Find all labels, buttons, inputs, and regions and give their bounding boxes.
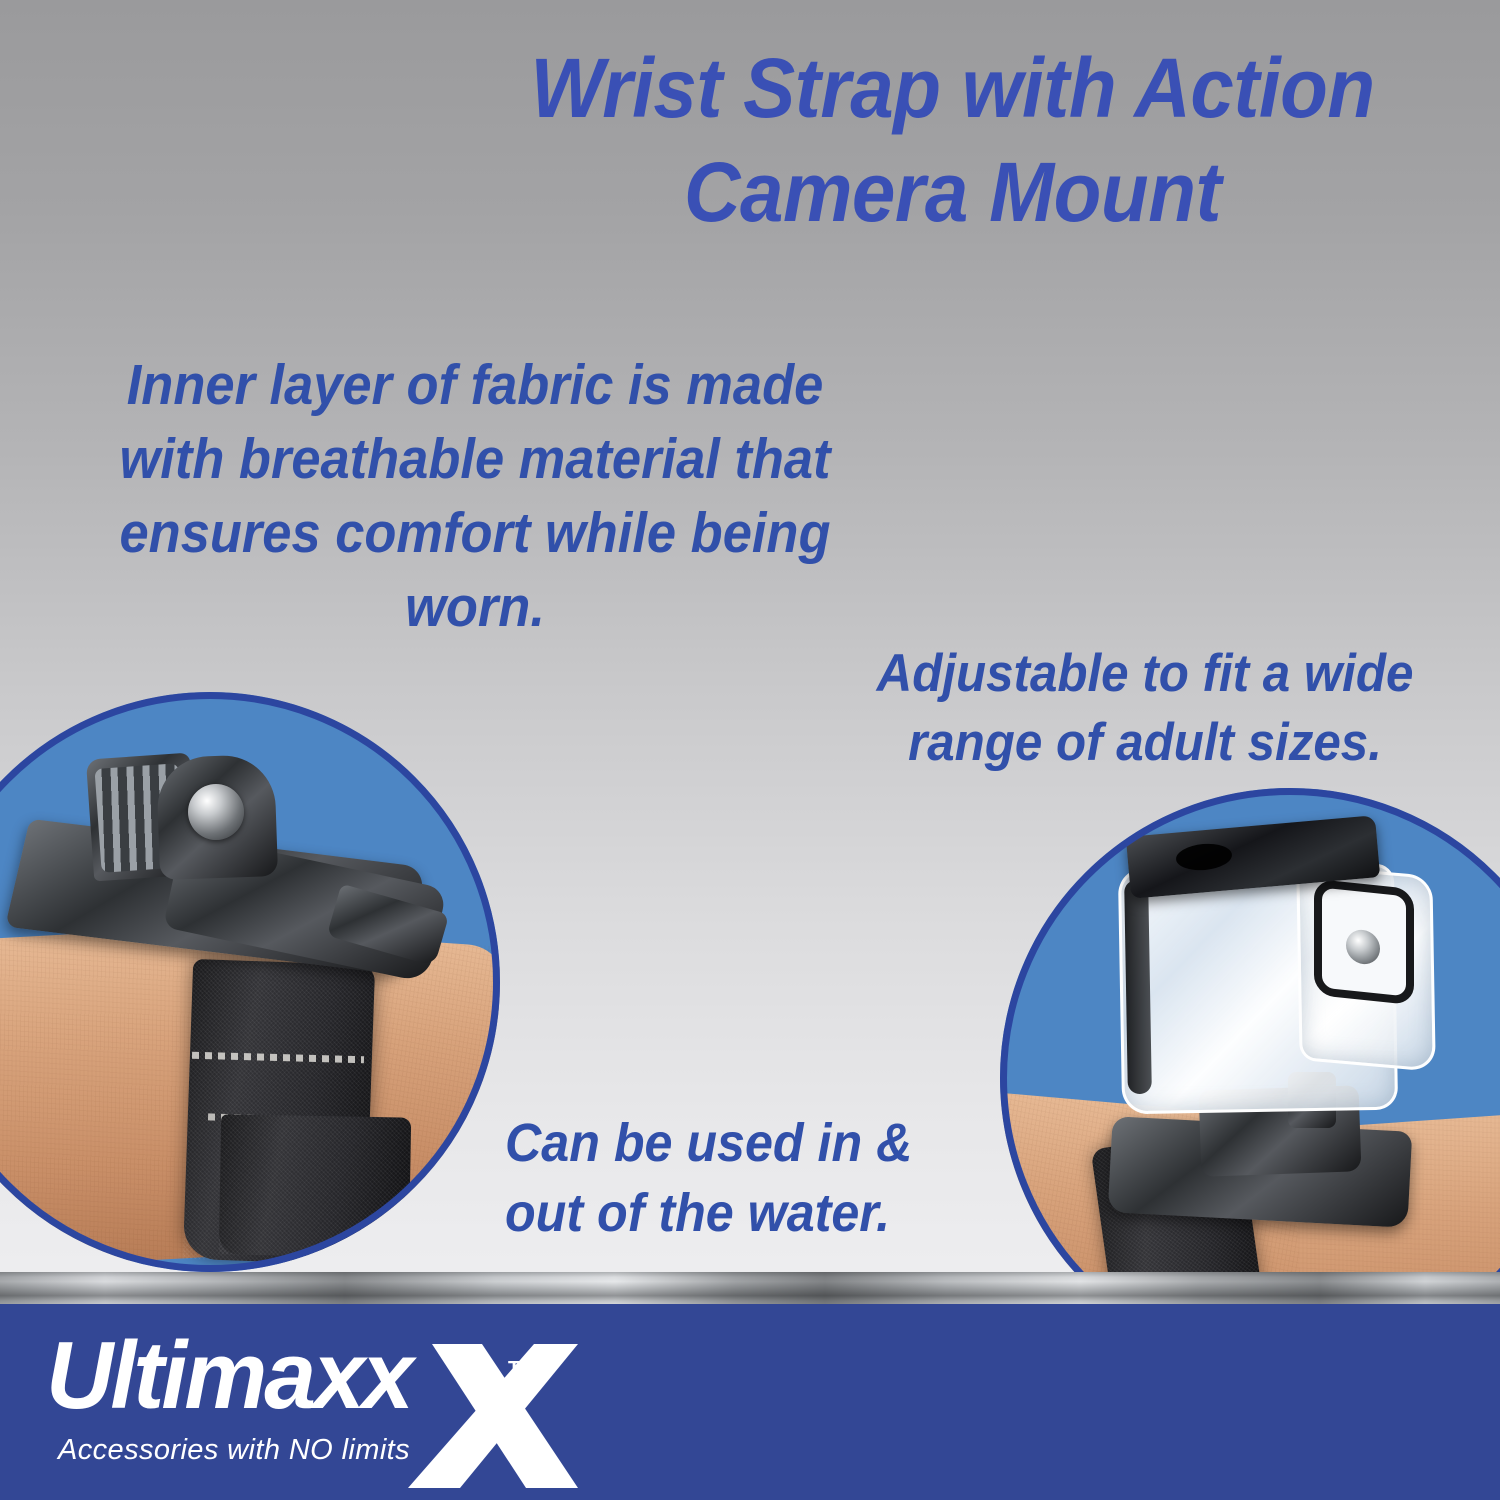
feature-caption-adjustable: Adjustable to fit a wide range of adult …: [824, 640, 1466, 778]
feature-caption-water: Can be used in & out of the water.: [505, 1108, 942, 1248]
feature-caption-inner-layer: Inner layer of fabric is made with breat…: [93, 348, 857, 644]
logo-x-icon: [398, 1336, 578, 1488]
page-title: Wrist Strap with Action Camera Mount: [467, 36, 1439, 244]
brand-logo: Ultimaxx TM Accessories with NO limits: [46, 1330, 566, 1490]
brand-tagline: Accessories with NO limits: [58, 1434, 410, 1467]
trademark-symbol: TM: [508, 1358, 537, 1381]
product-infographic: Wrist Strap with Action Camera Mount Inn…: [0, 0, 1500, 1500]
metallic-divider-strip: [0, 1272, 1500, 1304]
brand-wordmark: Ultimaxx: [46, 1328, 411, 1424]
